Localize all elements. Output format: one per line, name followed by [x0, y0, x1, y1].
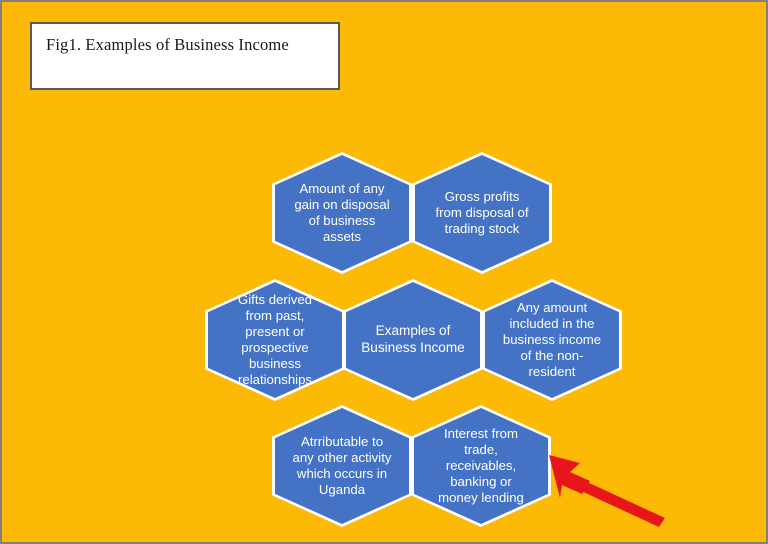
hex-cell-gross-profits[interactable]: Gross profits from disposal of trading s… [412, 152, 552, 274]
hex-cell-gain[interactable]: Amount of any gain on disposal of busine… [272, 152, 412, 274]
hex-label-gross-profits: Gross profits from disposal of trading s… [430, 189, 534, 237]
hex-cell-uganda[interactable]: Atrributable to any other activity which… [272, 405, 412, 527]
hex-cell-center[interactable]: Examples of Business Income [343, 279, 483, 401]
hex-label-interest: Interest from trade, receivables, bankin… [429, 426, 533, 506]
honeycomb-diagram: Amount of any gain on disposal of busine… [2, 2, 768, 544]
hex-label-gain: Amount of any gain on disposal of busine… [290, 181, 394, 245]
hex-cell-gifts[interactable]: Gifts derived from past, present or pros… [205, 279, 345, 401]
hex-label-gifts: Gifts derived from past, present or pros… [223, 292, 327, 389]
hex-cell-interest[interactable]: Interest from trade, receivables, bankin… [411, 405, 551, 527]
figure-canvas: Fig1. Examples of Business Income Amount… [0, 0, 768, 544]
hex-cell-non-resident[interactable]: Any amount included in the business inco… [482, 279, 622, 401]
hex-label-non-resident: Any amount included in the business inco… [500, 300, 604, 380]
hex-label-uganda: Atrributable to any other activity which… [290, 434, 394, 498]
hex-label-center: Examples of Business Income [361, 323, 465, 356]
